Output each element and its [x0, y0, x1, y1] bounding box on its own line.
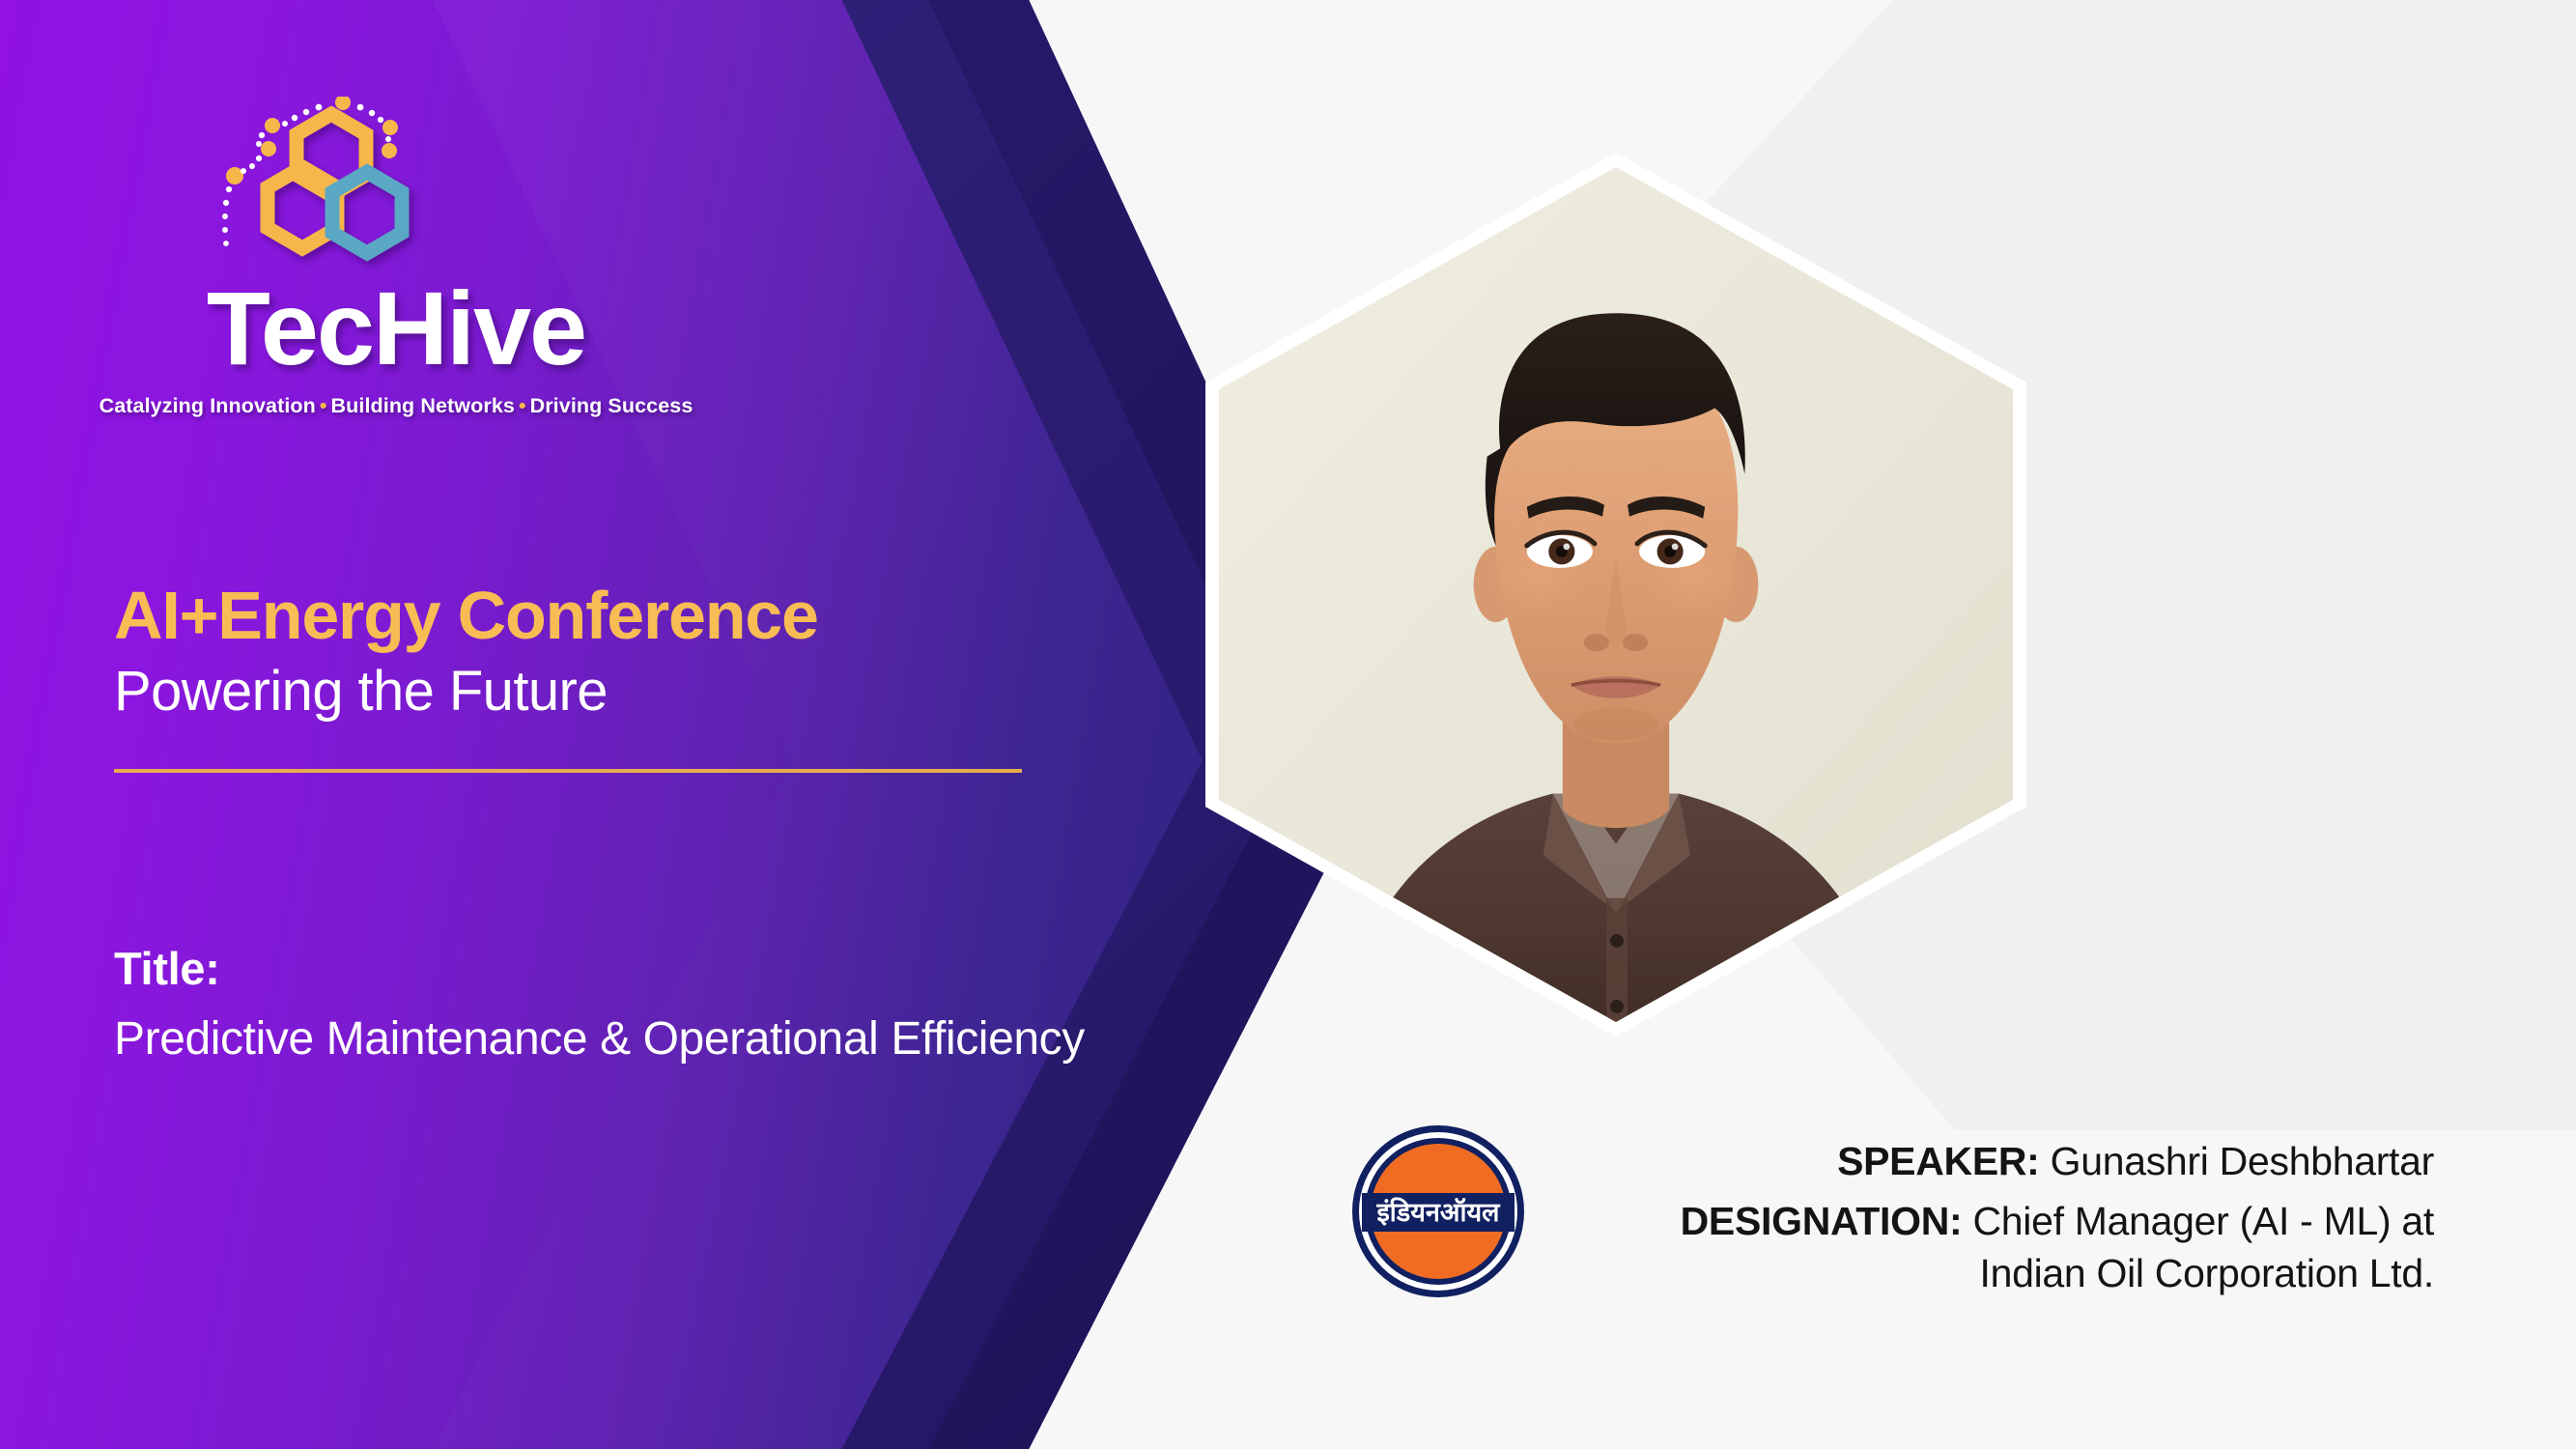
talk-title-label: Title: [114, 942, 1138, 995]
gold-divider [114, 769, 1022, 773]
designation-line: DESIGNATION: Chief Manager (AI - ML) at [1584, 1195, 2434, 1247]
indianoil-logo: इंडियनऑयल [1350, 1123, 1526, 1299]
svg-text:इंडियनऑयल: इंडियनऑयल [1376, 1197, 1502, 1228]
conference-heading: AI+Energy Conference Powering the Future [114, 580, 1080, 773]
conference-tagline: Powering the Future [114, 661, 1080, 723]
speaker-announcement-poster: TecHive Catalyzing Innovation•Building N… [0, 0, 2576, 1449]
honeycomb-hexagons-icon [203, 97, 454, 270]
brand-tagline: Catalyzing Innovation•Building Networks•… [97, 394, 695, 418]
tagline-separator-2: • [515, 394, 530, 417]
speaker-portrait-container [1205, 153, 2026, 1037]
brand-logo: TecHive Catalyzing Innovation•Building N… [97, 97, 695, 418]
speaker-name-line: SPEAKER: Gunashri Deshbhartar [1584, 1135, 2434, 1187]
speaker-name: Gunashri Deshbhartar [2051, 1139, 2434, 1183]
tagline-part-1: Catalyzing Innovation [99, 394, 316, 417]
tagline-separator-1: • [316, 394, 331, 417]
tagline-part-2: Building Networks [331, 394, 515, 417]
speaker-portrait [1219, 167, 2013, 1022]
designation-label: DESIGNATION: [1681, 1199, 1963, 1243]
designation-line-2: Indian Oil Corporation Ltd. [1584, 1247, 2434, 1299]
speaker-info: SPEAKER: Gunashri Deshbhartar DESIGNATIO… [1584, 1135, 2434, 1299]
talk-section: Title: Predictive Maintenance & Operatio… [114, 942, 1138, 1069]
brand-wordmark: TecHive [97, 276, 695, 381]
speaker-label: SPEAKER: [1837, 1139, 2039, 1183]
designation-text-1: Chief Manager (AI - ML) at [1972, 1199, 2434, 1243]
tagline-part-3: Driving Success [530, 394, 694, 417]
designation-text-2: Indian Oil Corporation Ltd. [1979, 1251, 2434, 1295]
talk-title-text: Predictive Maintenance & Operational Eff… [114, 1009, 1118, 1069]
conference-name: AI+Energy Conference [114, 580, 1080, 651]
